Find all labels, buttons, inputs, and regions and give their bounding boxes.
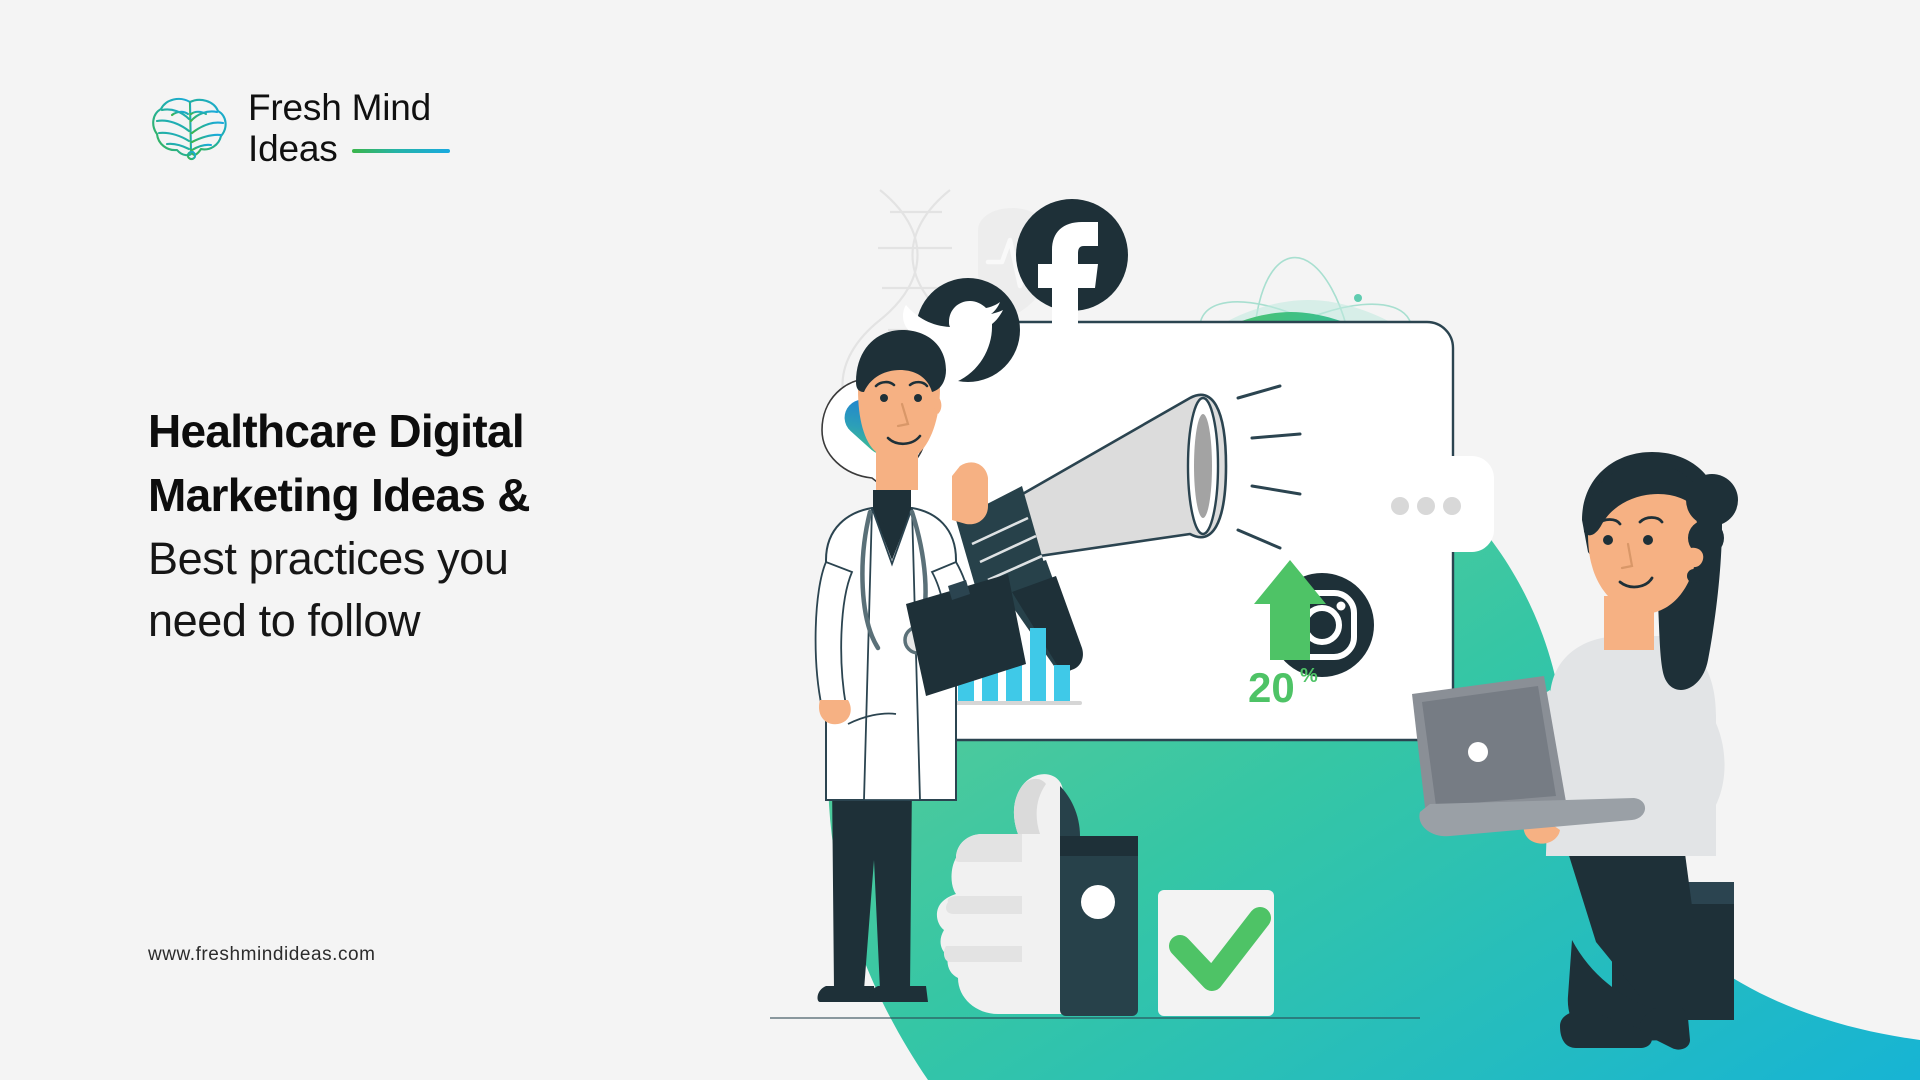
chat-dot-2 [1417, 497, 1435, 515]
doctor-eye-right [914, 394, 922, 402]
website-url[interactable]: www.freshmindideas.com [148, 944, 376, 966]
hair-bun [1686, 474, 1738, 526]
headline-line-3: Best practices you [148, 528, 768, 591]
bar-4 [1030, 628, 1046, 701]
thumbs-up-cuff [1060, 836, 1138, 1016]
earring [1687, 569, 1701, 583]
facebook-icon[interactable] [1016, 199, 1128, 330]
marketing-banner: Fresh Mind Ideas Healthcare Digital Mark… [0, 0, 1920, 1080]
headline-line-4: need to follow [148, 590, 768, 653]
hero-illustration: 20 % [760, 0, 1920, 1080]
chat-dot-3 [1443, 497, 1461, 515]
headline-line-1: Healthcare Digital [148, 400, 768, 464]
brand-name-line1: Fresh Mind [248, 88, 450, 129]
woman-eye-right [1643, 535, 1653, 545]
growth-unit: % [1300, 665, 1318, 687]
brand-name-line2: Ideas [248, 129, 338, 170]
page-title: Healthcare Digital Marketing Ideas & Bes… [148, 400, 768, 653]
brand-wordmark: Fresh Mind Ideas [248, 88, 450, 169]
bar-5 [1054, 665, 1070, 701]
woman-eye-left [1603, 535, 1613, 545]
growth-value: 20 [1248, 664, 1295, 711]
doctor-eye-left [880, 394, 888, 402]
chart-baseline [950, 701, 1082, 705]
chat-dot-1 [1391, 497, 1409, 515]
brand-logo[interactable]: Fresh Mind Ideas [148, 88, 450, 169]
laptop-logo [1468, 742, 1488, 762]
brand-accent-rule [352, 149, 450, 153]
brain-icon [148, 92, 232, 164]
thumbs-up-button [1081, 885, 1115, 919]
headline-line-2: Marketing Ideas & [148, 464, 768, 528]
check-icon [1158, 890, 1274, 1016]
